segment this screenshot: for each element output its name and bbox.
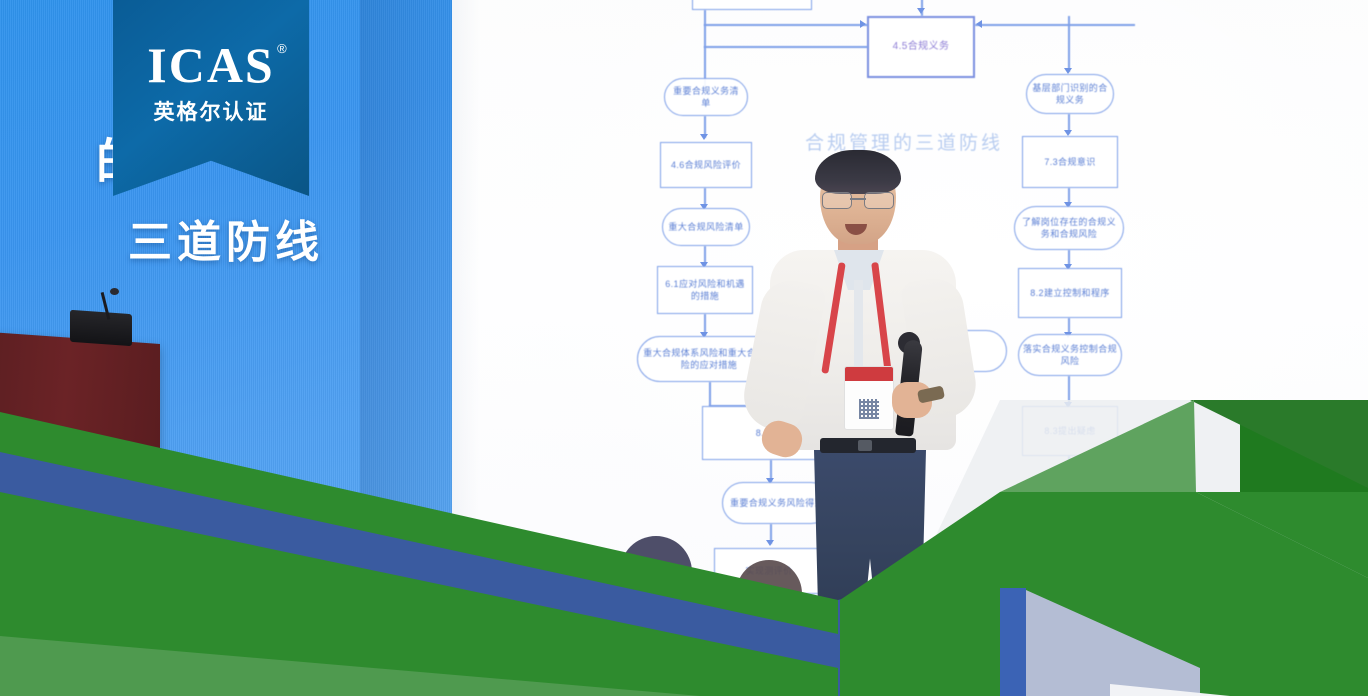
flow-node-right-6: 8.3提出疑虑	[1022, 406, 1118, 456]
registered-trademark-icon: ®	[277, 42, 289, 55]
belt-buckle	[858, 440, 872, 451]
green-band-pale	[0, 636, 700, 696]
flow-node-right-5: 落实合规义务控制合规风险	[1018, 334, 1122, 376]
flow-node-right-4: 8.2建立控制和程序	[1018, 268, 1122, 318]
flow-connector	[709, 382, 711, 406]
icas-chinese-name: 英格尔认证	[154, 96, 269, 126]
flow-arrow	[860, 20, 866, 28]
flow-node-left-2: 4.6合规风险评价	[660, 142, 752, 188]
flow-node-right-7: 疑似不合规	[1012, 482, 1128, 520]
audience-head	[1192, 560, 1262, 620]
qr-code-icon	[859, 399, 879, 419]
flow-arrow	[917, 8, 925, 14]
podium-microphone-head-icon	[110, 288, 119, 295]
flow-node-top-partial	[692, 0, 812, 10]
icas-wordmark-text: ICAS	[147, 37, 274, 93]
pale-highlight	[1110, 684, 1230, 696]
audience-head	[620, 536, 692, 598]
wall-subtitle: 三道防线	[128, 206, 324, 270]
flow-node-central: 4.5合规义务	[867, 16, 975, 78]
flow-node-right-3: 了解岗位存在的合规义务和合规风险	[1014, 206, 1124, 250]
flow-node-left-3: 重大合规风险清单	[662, 208, 750, 246]
speaker-hair	[815, 150, 901, 194]
flow-arrow	[976, 20, 982, 28]
flow-arrow	[700, 134, 708, 140]
flow-connector	[975, 24, 1135, 26]
speaker-trousers	[814, 450, 926, 625]
flow-connector	[704, 46, 868, 48]
podium-laptop	[70, 310, 132, 346]
flow-node-right-2: 7.3合规意识	[1022, 136, 1118, 188]
icas-wordmark: ICAS ®	[147, 40, 274, 90]
flow-node-left-1: 重要合规义务清单	[664, 78, 748, 116]
speaker-figure	[742, 150, 992, 620]
podium	[0, 332, 160, 454]
flow-arrow	[1064, 540, 1072, 546]
flow-node-right-1: 基层部门识别的合规义务	[1026, 74, 1114, 114]
flow-connector	[1068, 16, 1070, 72]
screenshot-root: 合规管理的三道防线 4.5合规义务 重要合规义务清单 4.6合规风险评价 重大合…	[0, 0, 1368, 696]
flow-connector	[704, 24, 868, 26]
glasses-icon	[822, 192, 894, 207]
flow-node-left-4: 6.1应对风险和机遇的措施	[657, 266, 753, 314]
name-badge	[844, 366, 894, 430]
